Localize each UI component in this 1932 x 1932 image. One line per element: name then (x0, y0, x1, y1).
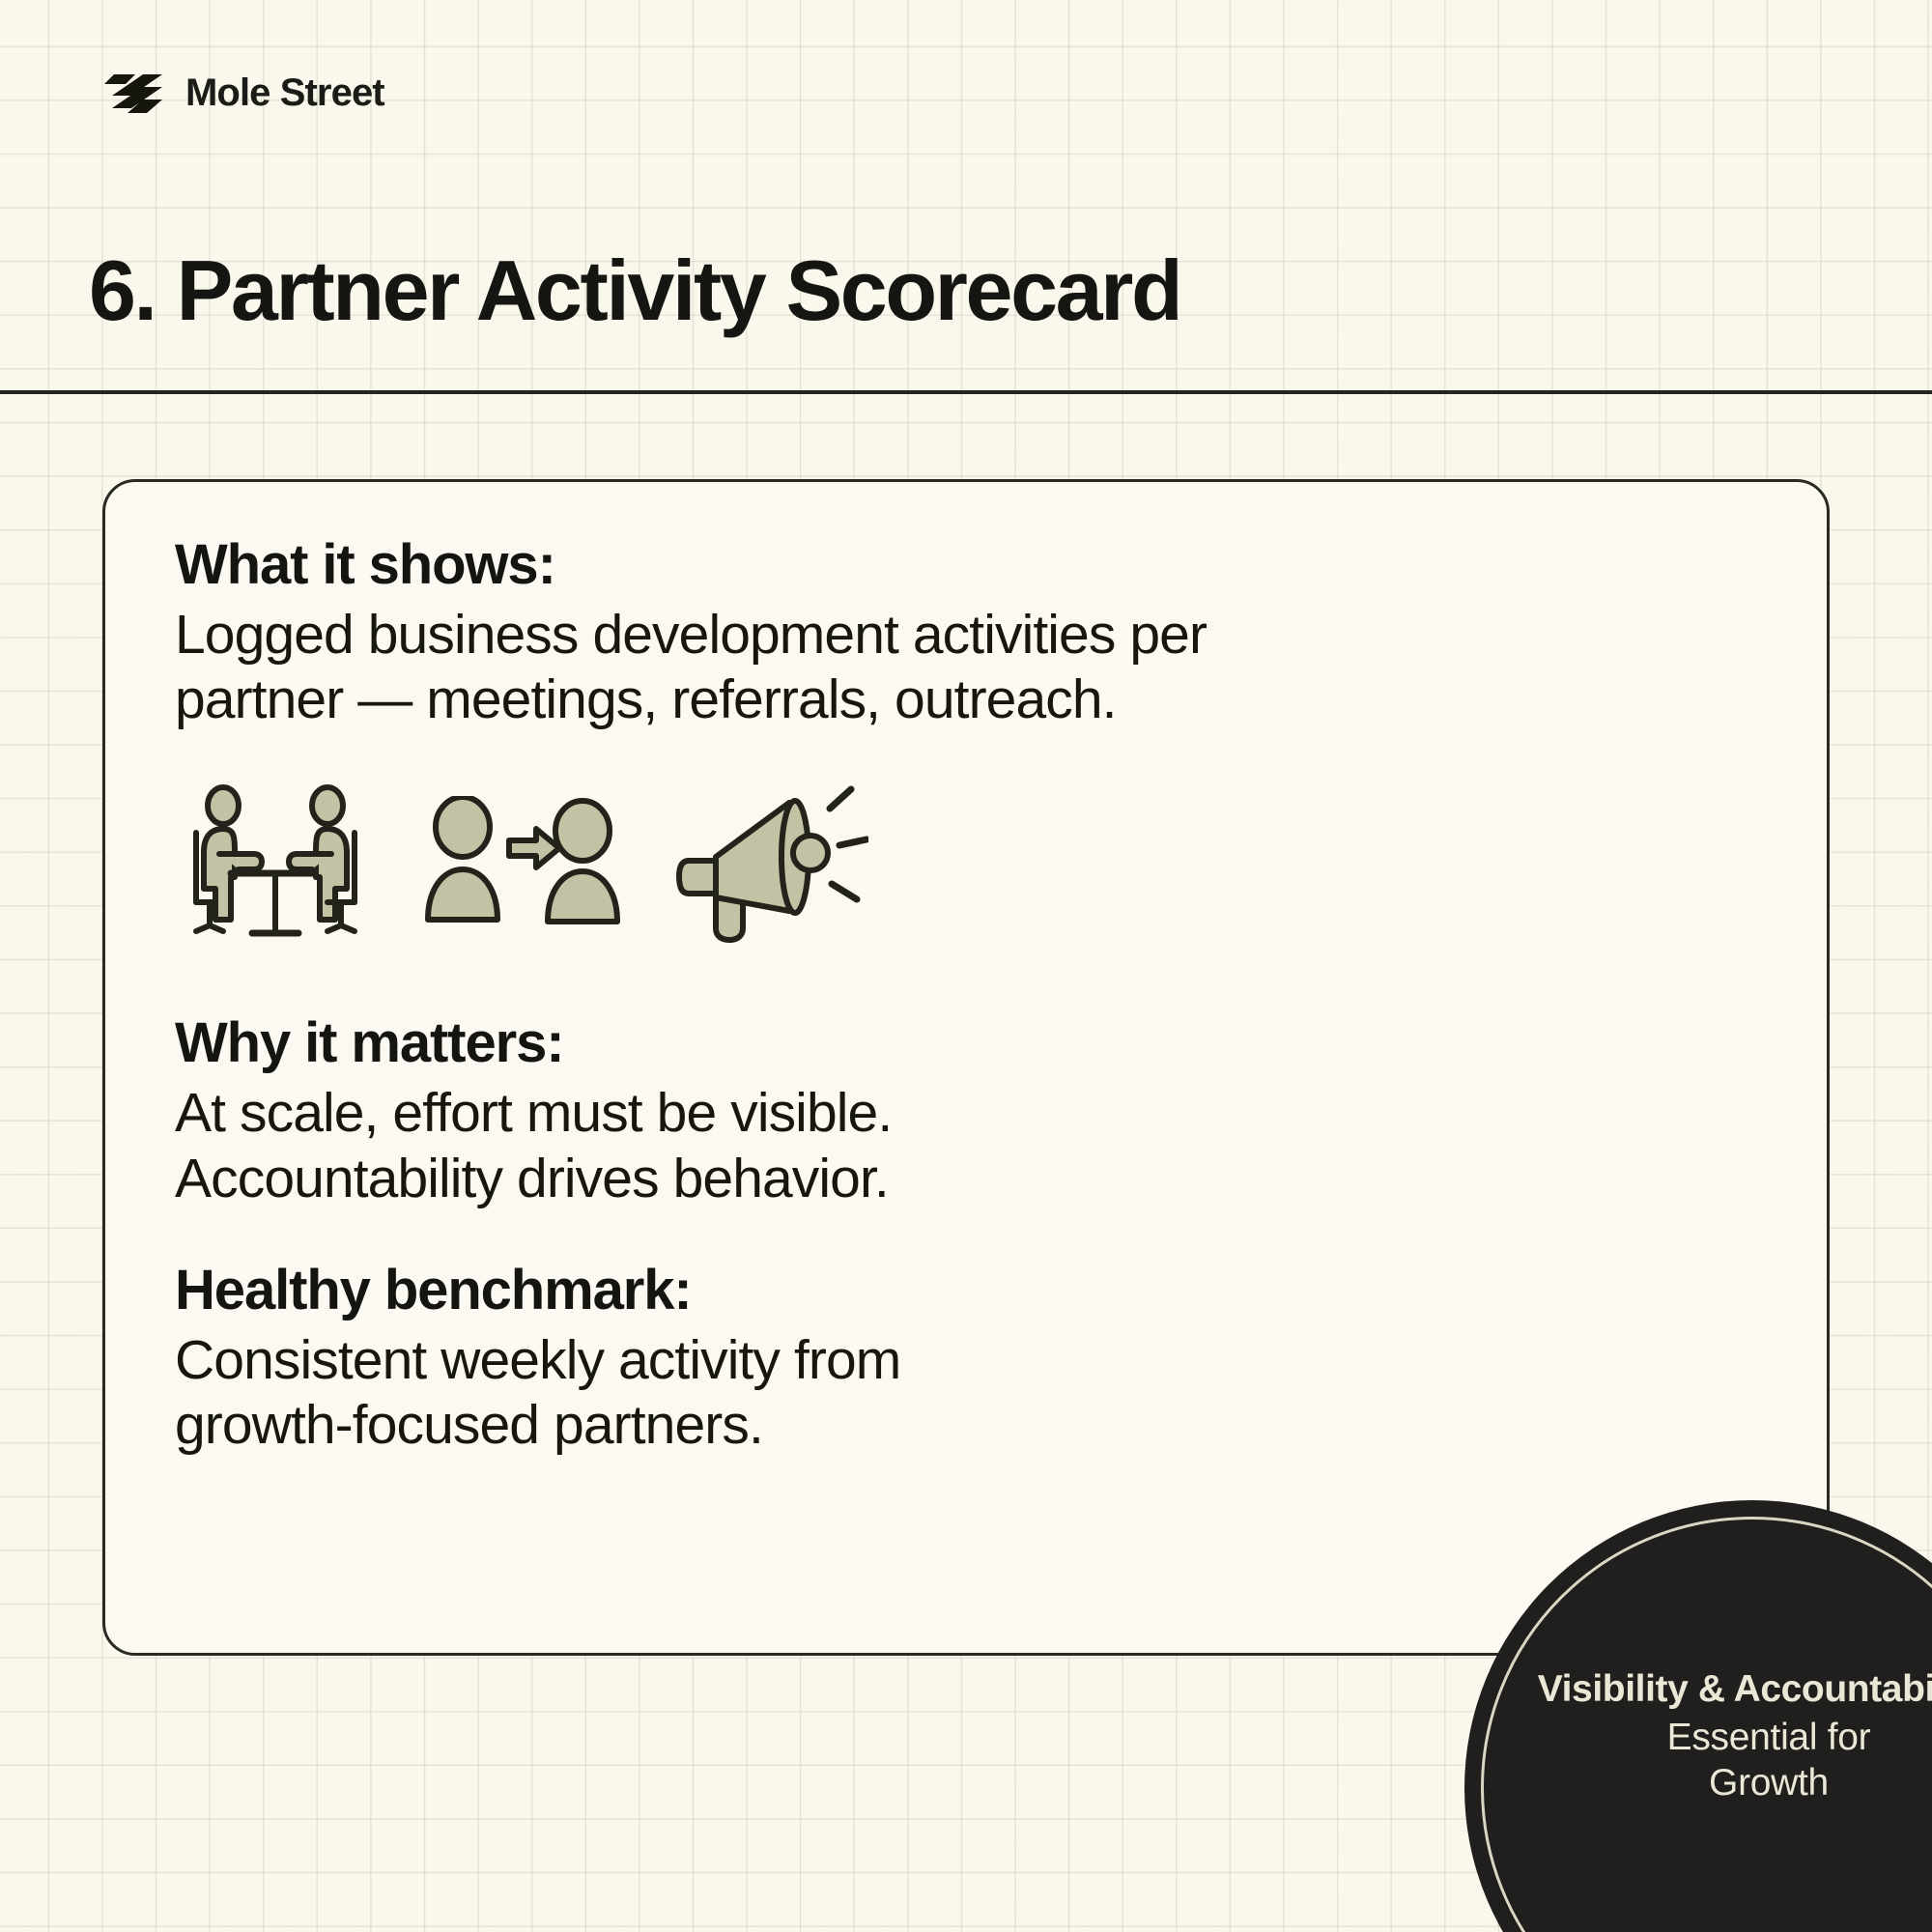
section-why-it-matters: Why it matters: At scale, effort must be… (175, 1012, 1769, 1210)
section-healthy-benchmark: Healthy benchmark: Consistent weekly act… (175, 1260, 1769, 1458)
section-body-what: Logged business development activities p… (175, 603, 1769, 733)
section-label-why: Why it matters: (175, 1012, 1769, 1075)
referral-person-to-person-icon (424, 796, 621, 927)
meeting-at-table-icon (181, 784, 370, 939)
section-body-benchmark: Consistent weekly activity from growth-f… (175, 1328, 1769, 1459)
brand-name: Mole Street (185, 73, 384, 112)
megaphone-outreach-icon (675, 780, 868, 944)
badge-headline: Visibility & Accountability: (1536, 1666, 1932, 1713)
section-label-benchmark: Healthy benchmark: (175, 1260, 1769, 1322)
brand-lockup: Mole Street (93, 70, 384, 116)
section-what-it-shows: What it shows: Logged business developme… (175, 534, 1769, 732)
diagonal-slashes-logo-icon (93, 70, 168, 116)
section-body-why: At scale, effort must be visible. Accoun… (175, 1081, 1769, 1211)
content-card: What it shows: Logged business developme… (102, 479, 1830, 1656)
badge-subline: Essential for Growth (1536, 1715, 1932, 1806)
poster-canvas: Mole Street 6. Partner Activity Scorecar… (0, 0, 1932, 1932)
activity-icon-row (181, 775, 1769, 949)
section-label-what: What it shows: (175, 534, 1769, 597)
badge-text: Visibility & Accountability: Essential f… (1536, 1666, 1932, 1806)
page-title: 6. Partner Activity Scorecard (89, 246, 1180, 335)
title-divider (0, 390, 1932, 394)
